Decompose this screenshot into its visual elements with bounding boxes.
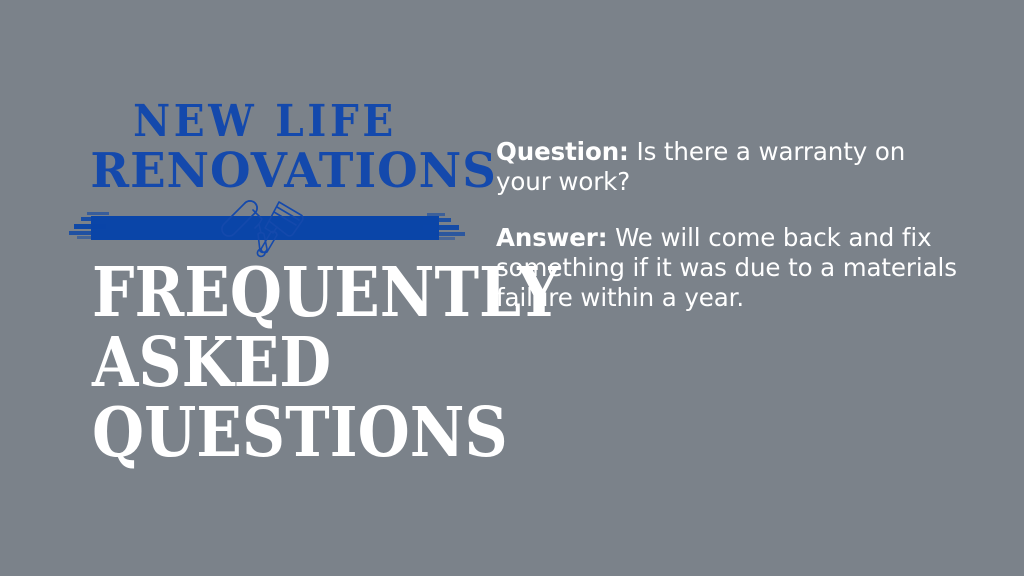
qa-item-answer: Answer: We will come back and fix someth… [496,223,966,313]
page-title: FREQUENTLY ASKED QUESTIONS [92,258,512,468]
brushstroke-fray-left [69,231,99,235]
qa-label-answer: Answer: [496,223,607,252]
qa-item-question: Question: Is there a warranty on your wo… [496,137,966,197]
brushstroke-fray-right [437,232,465,236]
page-title-line-2: ASKED [92,328,462,398]
brushstroke-fray-left [77,236,97,239]
brushstroke-fray-right [427,213,445,216]
logo-line-renovations: RENOVATIONS [90,146,439,196]
page-title-line-3: QUESTIONS [92,398,462,468]
brushstroke-divider [85,200,445,258]
qa-label-question: Question: [496,137,629,166]
faq-slide: NEW LIFE RENOVATIONS [0,0,1024,576]
brushstroke-fray-right [421,218,451,222]
brushstroke-fray-right [423,225,459,230]
paint-roller-and-brush-icon [217,194,309,260]
logo-line-new-life: NEW LIFE [99,100,430,144]
qa-list: Question: Is there a warranty on your wo… [496,112,966,337]
brushstroke-fray-left [81,217,107,221]
brushstroke-fray-right [439,237,455,240]
page-title-line-1: FREQUENTLY [92,258,462,328]
brushstroke-fray-left [87,212,109,215]
brand-lockup: NEW LIFE RENOVATIONS [85,100,465,258]
brushstroke-fray-left [74,224,106,229]
company-logo: NEW LIFE RENOVATIONS [85,100,445,258]
